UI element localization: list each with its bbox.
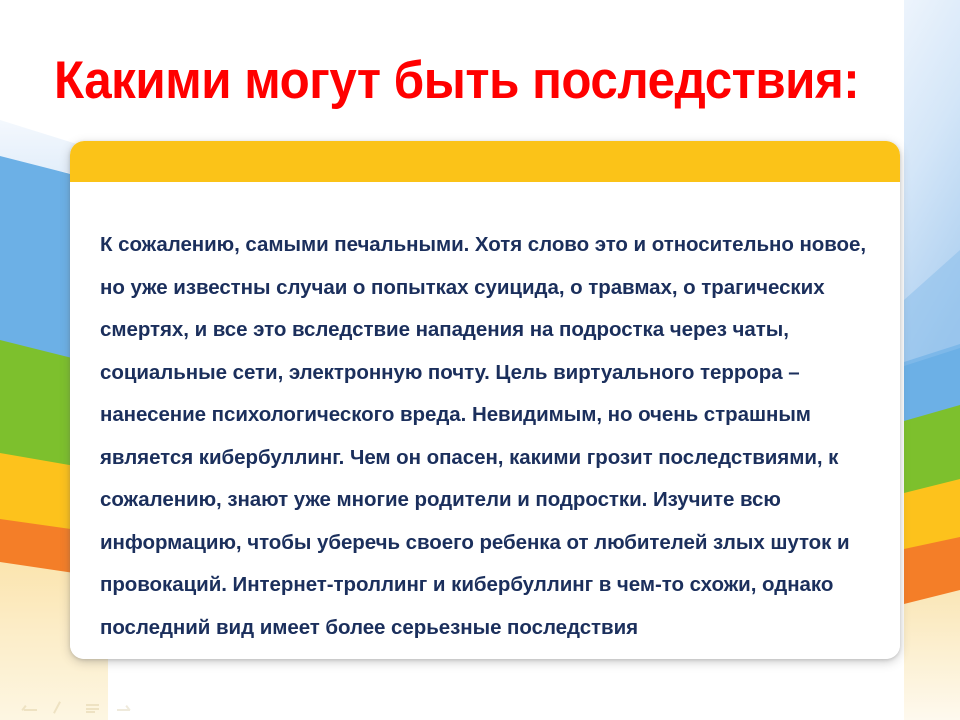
- arrow-left-icon: [22, 700, 39, 714]
- card-body: К сожалению, самыми печальными. Хотя сло…: [70, 182, 900, 659]
- bars-icon: [84, 700, 101, 714]
- content-card: К сожалению, самыми печальными. Хотя сло…: [70, 141, 900, 659]
- presentation-slide: Какими могут быть последствия: К сожален…: [0, 0, 960, 720]
- right-decoration-group: [904, 0, 960, 720]
- arrow-right-icon: [115, 700, 132, 714]
- watermark-icon-row: [22, 700, 132, 714]
- slash-icon: [53, 700, 70, 714]
- page-title: Какими могут быть последствия:: [54, 50, 872, 112]
- card-body-text: К сожалению, самыми печальными. Хотя сло…: [100, 224, 878, 649]
- card-header-bar: [70, 141, 900, 182]
